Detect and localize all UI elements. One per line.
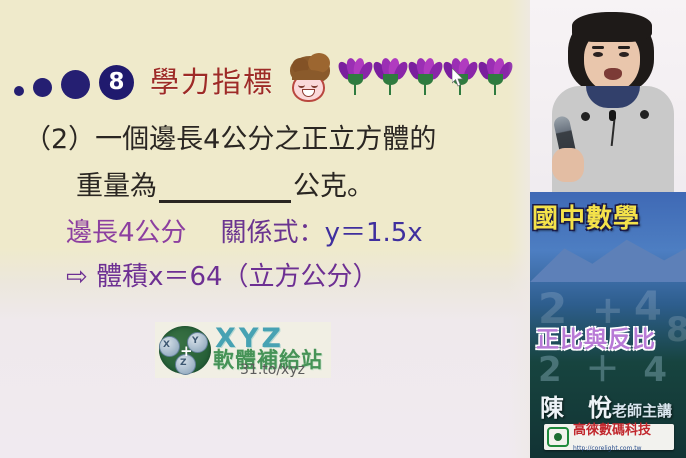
flower-icon	[340, 58, 371, 96]
teacher-name: 陳 悅	[540, 394, 612, 422]
screenshot-root: 8 學力指標	[0, 0, 686, 458]
teacher-credit: 陳 悅老師主講	[540, 388, 672, 423]
question-line-2-suffix: 公克。	[293, 164, 374, 203]
decor-dot-large	[61, 70, 90, 99]
company-url: http://corelight.com.tw	[573, 445, 642, 452]
decor-dot-medium	[33, 78, 52, 97]
slide-edge-fade	[508, 0, 532, 458]
decor-dot-small	[14, 86, 24, 96]
question-line-2: 重量為 公克。	[76, 164, 374, 203]
course-banner: 2 + 4 8 國中數學 正比與反比 2 ＋ 4 ＝ 6 陳 悅老師主講 高徠數…	[530, 192, 686, 458]
xyz-watermark: + XYZ XYZ 軟體補給站 31.to/xyz	[155, 322, 331, 378]
girl-face-icon	[288, 56, 332, 102]
answer-blank[interactable]	[159, 173, 291, 203]
company-logo: 高徠數碼科技 http://corelight.com.tw	[544, 424, 674, 450]
company-mark-icon	[547, 427, 569, 447]
background-equation: 2 ＋ 4 ＝ 6	[538, 342, 686, 391]
flower-icon	[375, 58, 406, 96]
watermark-url: 31.to/xyz	[240, 362, 305, 378]
flower-icon	[480, 58, 511, 96]
section-title: 學力指標	[150, 59, 274, 101]
relation-value: y＝1.5x	[325, 218, 423, 248]
working-result: 體積x＝64（立方公分）	[96, 262, 378, 292]
working-line-1: 邊長4公分關係式：y＝1.5x	[66, 212, 423, 249]
teacher-video-frame	[530, 0, 686, 192]
teacher-role: 老師主講	[612, 402, 672, 420]
question-line-2-prefix: 重量為	[76, 164, 157, 203]
video-panel[interactable]: 2 + 4 8 國中數學 正比與反比 2 ＋ 4 ＝ 6 陳 悅老師主講 高徠數…	[530, 0, 686, 458]
slide-area: 8 學力指標	[0, 0, 532, 458]
question-line-1: （2）一個邊長4公分之正立方體的	[24, 117, 436, 156]
working-line-2: ⇨ 體積x＝64（立方公分）	[66, 256, 379, 293]
mountain-graphic	[530, 234, 686, 282]
flower-decoration-row	[340, 58, 511, 96]
arrow-icon: ⇨	[66, 262, 88, 292]
section-number-badge: 8	[99, 65, 134, 100]
header-bullet-group: 8	[14, 68, 134, 100]
company-name: 高徠數碼科技	[573, 423, 651, 438]
relation-label: 關係式：	[221, 218, 325, 248]
flower-icon	[410, 58, 441, 96]
mouse-cursor	[452, 68, 464, 87]
course-title: 國中數學	[532, 198, 686, 235]
working-given: 邊長4公分	[66, 218, 187, 248]
